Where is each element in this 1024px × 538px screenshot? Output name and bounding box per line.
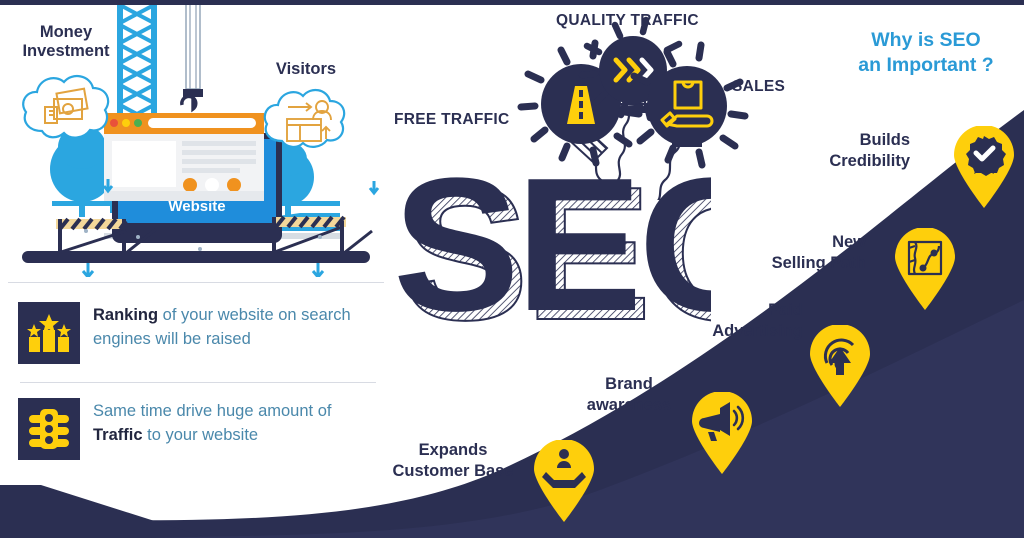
benefit-traffic: Same time drive huge amount of Traffic t…: [18, 398, 361, 460]
page-title: Why is SEO an Important ?: [836, 28, 1016, 78]
pin-expands-customer-base[interactable]: [532, 440, 596, 522]
label-money-investment: Money Investment: [12, 23, 120, 62]
benefit-ranking-text: Ranking of your website on search engine…: [93, 302, 361, 352]
benefit-traffic-text: Same time drive huge amount of Traffic t…: [93, 398, 361, 448]
seo-wordmark: SEO SEO: [393, 168, 711, 340]
pin-label-builds-credibility: Builds Credibility: [790, 130, 910, 171]
pin-label-new-selling-path: New Selling Path: [726, 232, 866, 273]
benefit-ranking: Ranking of your website on search engine…: [18, 302, 361, 364]
panel-divider-mid: [20, 382, 376, 383]
seo-text: SEO: [393, 168, 711, 340]
panel-divider-top: [8, 282, 384, 283]
pin-paid-advertising[interactable]: [808, 325, 872, 407]
pin-label-brand-awareness: Brand awareness: [570, 374, 688, 415]
traffic-light-icon: [18, 398, 80, 460]
left-illustration-panel: Website: [0, 5, 392, 485]
podium-stars-icon: [18, 302, 80, 364]
pin-label-paid-advertising: Paid Advertising: [668, 300, 803, 341]
pin-builds-credibility[interactable]: [952, 126, 1016, 208]
pin-new-selling-path[interactable]: [893, 228, 957, 310]
label-visitors: Visitors: [258, 60, 354, 79]
money-cloud: [18, 69, 114, 147]
infographic-canvas: Website: [0, 0, 1024, 538]
pin-brand-awareness[interactable]: [690, 392, 754, 474]
pin-label-expands-customer-base: Expands Customer Base: [372, 440, 534, 481]
visitors-cloud: [260, 83, 352, 157]
